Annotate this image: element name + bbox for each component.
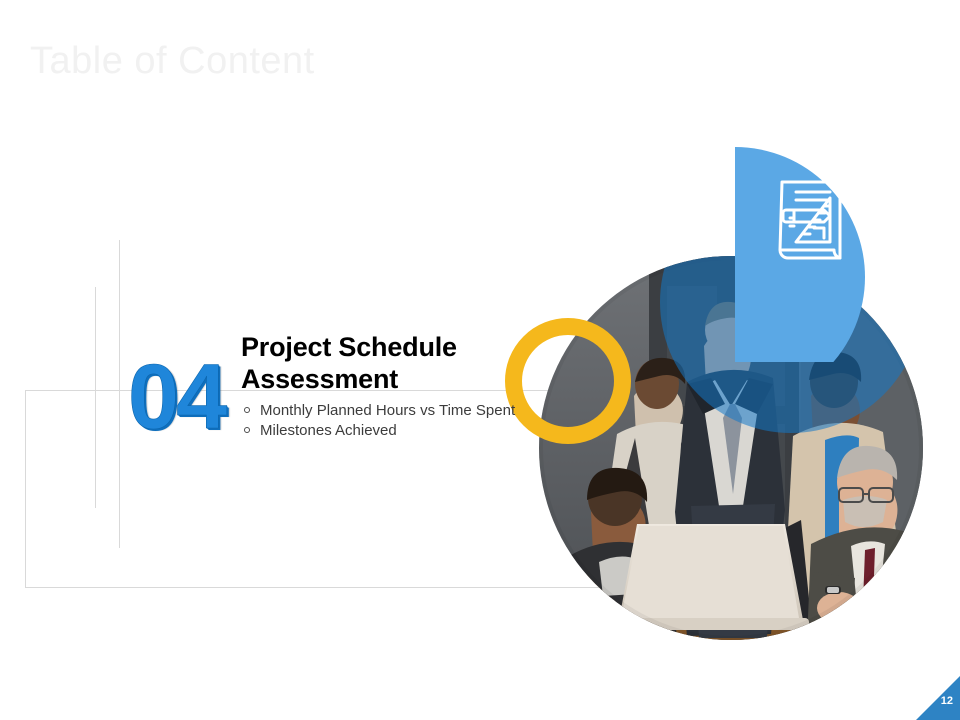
page-number-badge: 12 <box>916 676 960 720</box>
photo-circle <box>539 256 923 640</box>
entry-heading: Project Schedule Assessment <box>241 332 516 396</box>
accent-blue-quarter-disc <box>735 147 865 362</box>
slide-canvas: Table of Content <box>0 0 960 720</box>
yellow-ring-accent <box>505 318 631 444</box>
list-item-label: Monthly Planned Hours vs Time Spent <box>260 402 515 419</box>
document-pencil-ruler-icon <box>768 174 856 266</box>
page-title: Table of Content <box>30 41 315 83</box>
bullet-circle-icon <box>244 407 250 413</box>
list-item: Milestones Achieved <box>241 421 516 440</box>
bullet-circle-icon <box>244 427 250 433</box>
entry-text-block: Project Schedule Assessment Monthly Plan… <box>241 332 516 441</box>
page-number-text: 12 <box>941 696 953 707</box>
badge-triangle-shape <box>916 676 960 720</box>
entry-bullet-list: Monthly Planned Hours vs Time Spent Mile… <box>241 401 516 440</box>
list-item-label: Milestones Achieved <box>260 422 397 439</box>
team-meeting-photo <box>539 256 923 640</box>
entry-index-number: 04 <box>128 351 224 443</box>
list-item: Monthly Planned Hours vs Time Spent <box>241 401 516 420</box>
